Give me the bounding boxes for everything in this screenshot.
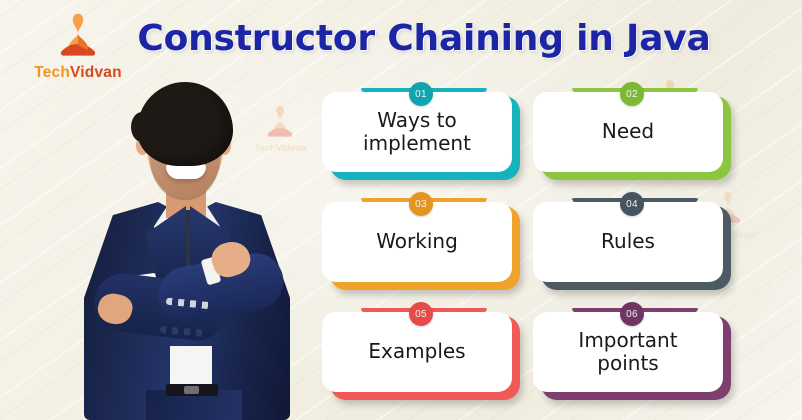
- brand-logo[interactable]: TechVidvan: [24, 12, 132, 82]
- card-number-badge: 06: [620, 302, 644, 326]
- meditating-figure-logo-icon: [55, 12, 101, 62]
- card-label: Examples: [368, 340, 465, 363]
- card-number-badge: 03: [409, 192, 433, 216]
- card-label: Rules: [601, 230, 655, 253]
- card-number-badge: 01: [409, 82, 433, 106]
- page-title: Constructor Chaining in Java: [124, 18, 724, 59]
- topic-card-05[interactable]: Examples 05: [322, 302, 520, 400]
- topic-card-06[interactable]: Important points 06: [533, 302, 731, 400]
- card-number-badge: 04: [620, 192, 644, 216]
- topic-card-03[interactable]: Working 03: [322, 192, 520, 290]
- topic-card-01[interactable]: Ways to implement 01: [322, 82, 520, 180]
- topic-card-04[interactable]: Rules 04: [533, 192, 731, 290]
- card-label: Ways to implement: [334, 109, 500, 155]
- card-number-badge: 02: [620, 82, 644, 106]
- infographic-slide: TechVidvan TechVidvan TechVidvan TechVid…: [0, 0, 802, 420]
- card-label: Important points: [545, 329, 711, 375]
- topic-card-02[interactable]: Need 02: [533, 82, 731, 180]
- card-label: Working: [376, 230, 458, 253]
- card-number-badge: 05: [409, 302, 433, 326]
- card-label: Need: [602, 120, 654, 143]
- hero-photo: [62, 78, 312, 420]
